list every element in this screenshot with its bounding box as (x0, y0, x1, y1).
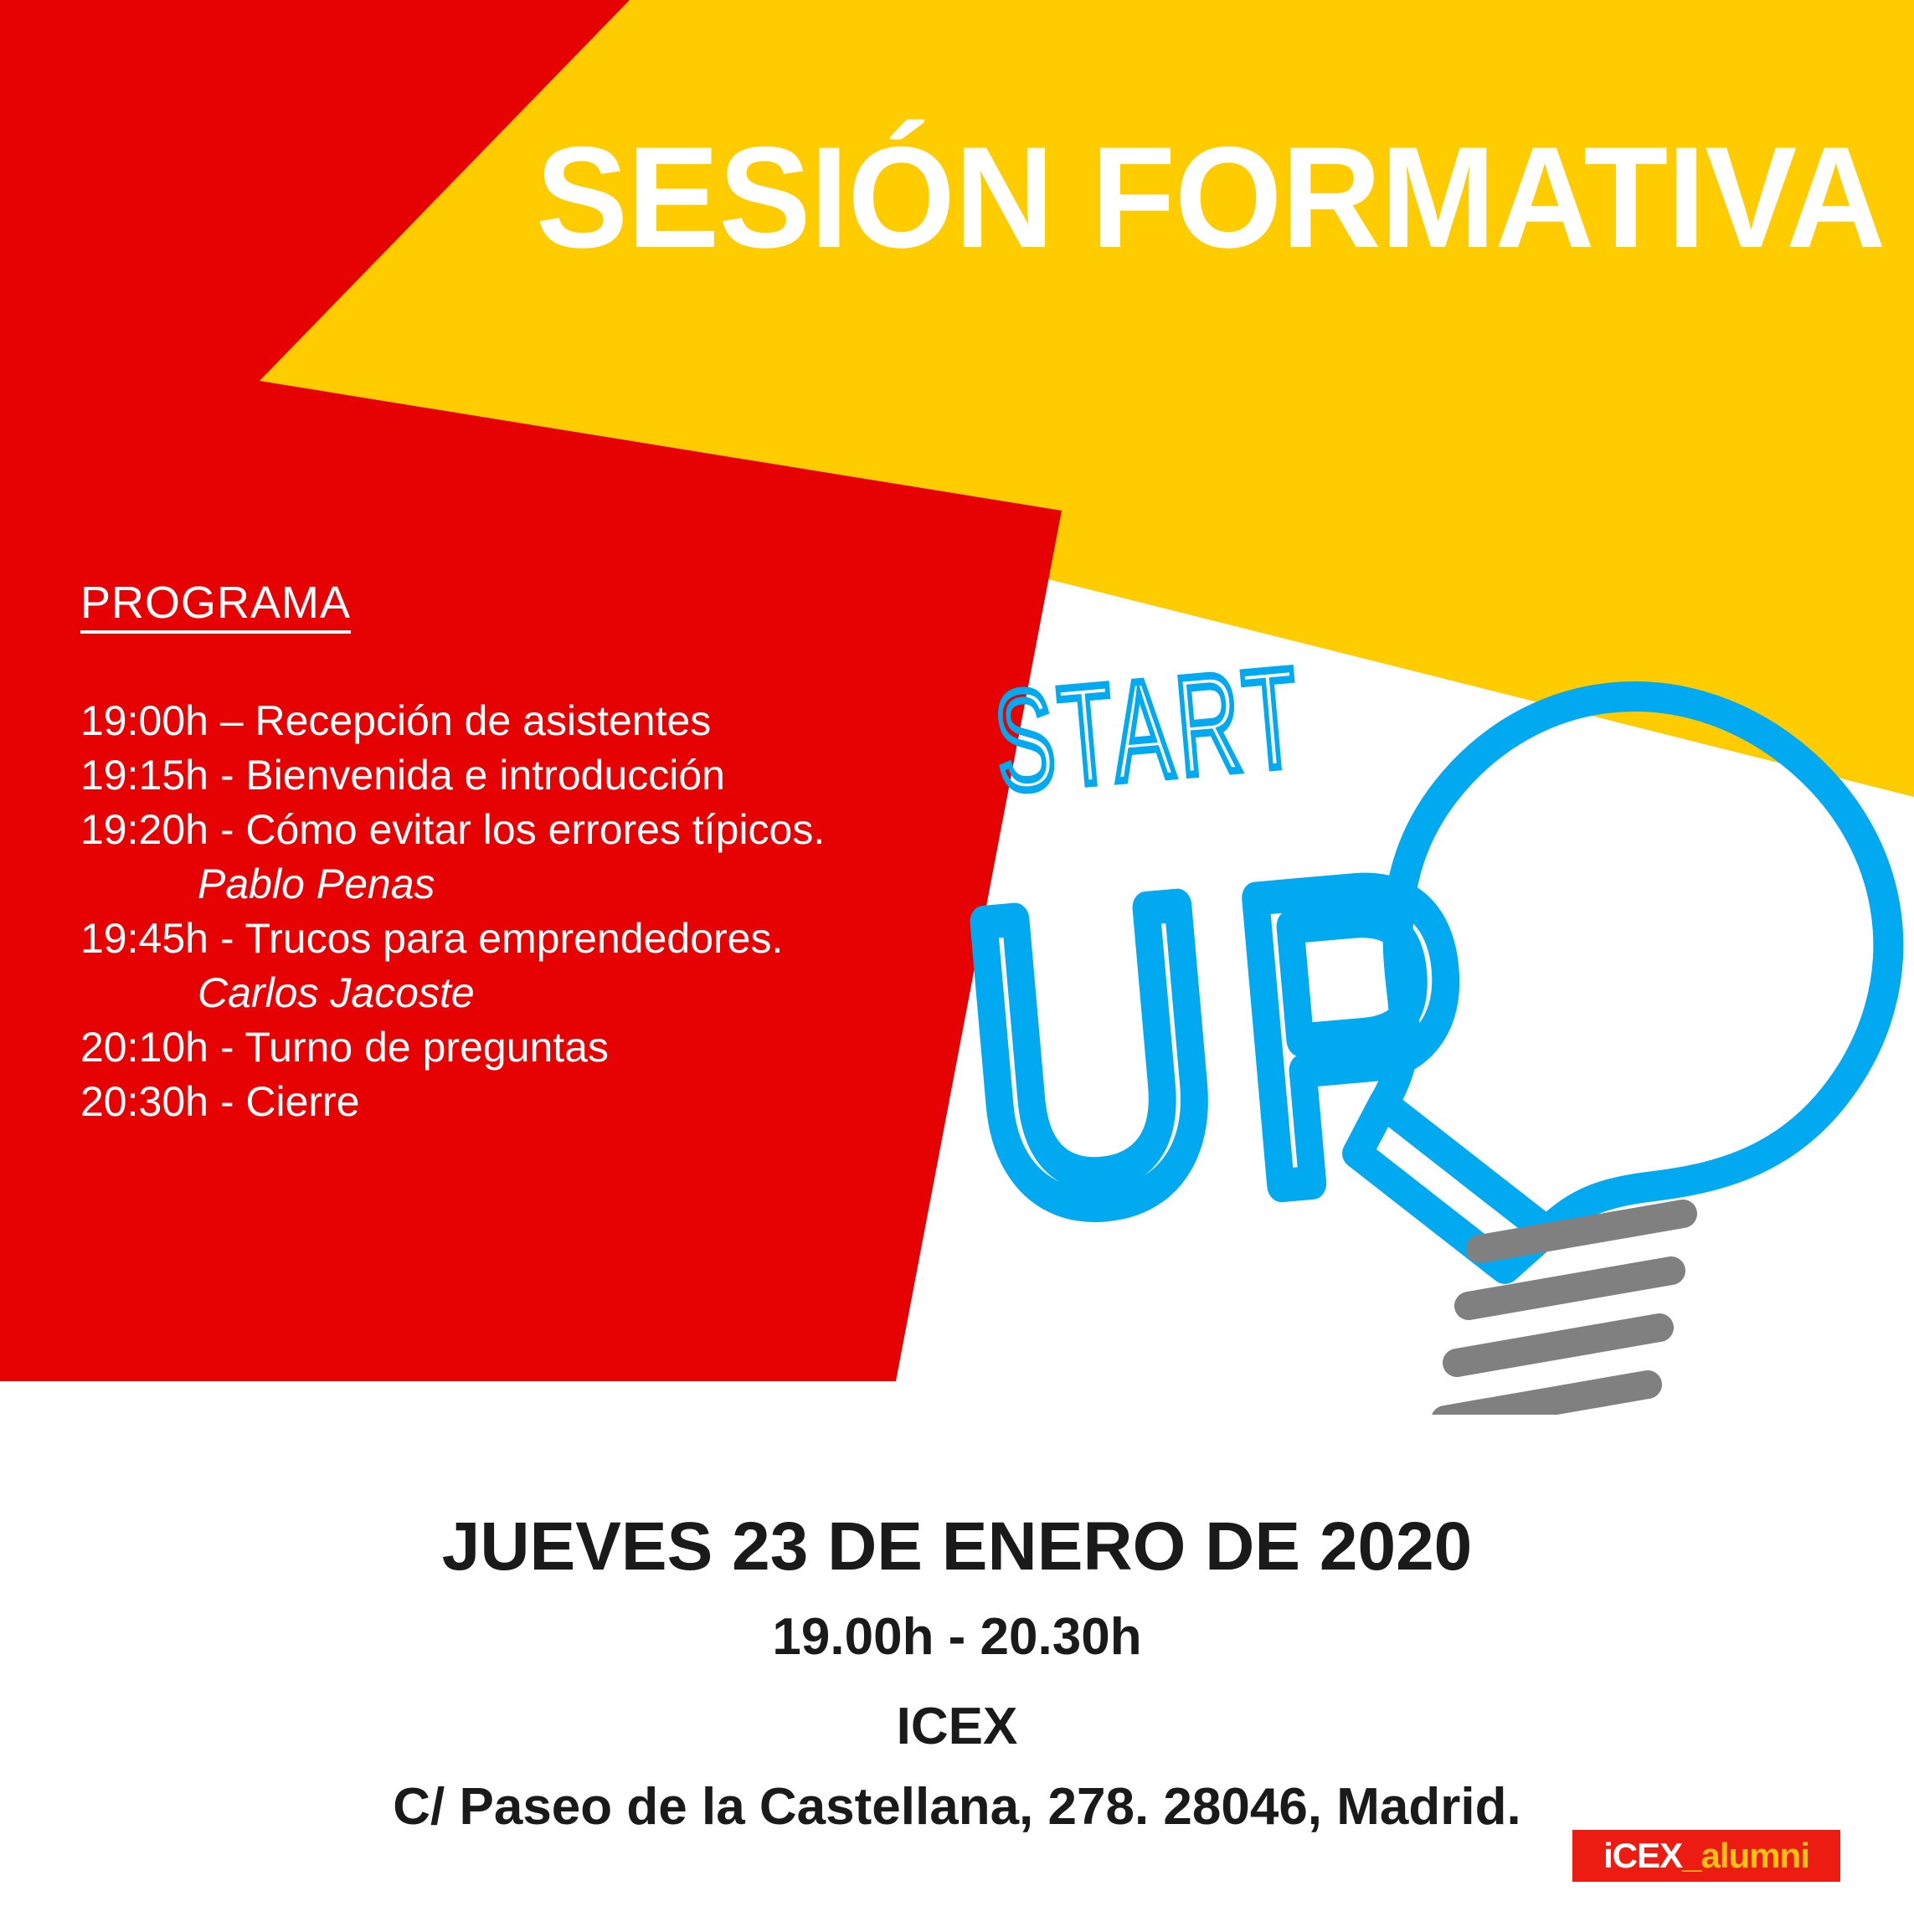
startup-graphic: START UP (963, 636, 1914, 1415)
programa-list: 19:00h – Recepción de asistentes 19:15h … (80, 694, 867, 1129)
icex-alumni-logo[interactable]: iCEX _alumni (1572, 1830, 1840, 1882)
list-item-speaker: Pablo Penas (80, 857, 867, 912)
start-word-label: START (989, 637, 1310, 821)
list-item: 19:45h - Trucos para emprendedores. (80, 912, 867, 966)
start-word: START (989, 637, 1310, 821)
event-details: JUEVES 23 DE ENERO DE 2020 19.00h - 20.3… (0, 1507, 1914, 1847)
programa-section: PROGRAMA 19:00h – Recepción de asistente… (80, 579, 867, 1129)
logo-brand-text: iCEX (1603, 1838, 1682, 1873)
list-item: 19:00h – Recepción de asistentes (80, 694, 867, 748)
logo-suffix-text: _alumni (1682, 1838, 1809, 1873)
list-item: 19:15h - Bienvenida e introducción (80, 748, 867, 803)
list-item: 20:10h - Turno de preguntas (80, 1020, 867, 1075)
event-venue: ICEX (0, 1687, 1914, 1767)
event-date: JUEVES 23 DE ENERO DE 2020 (0, 1507, 1914, 1588)
list-item: 19:20h - Cómo evitar los errores típicos… (80, 803, 867, 857)
programa-heading: PROGRAMA (80, 579, 351, 634)
event-time: 19.00h - 20.30h (0, 1588, 1914, 1687)
bulb-base-hatch-icon (1445, 1214, 1683, 1415)
list-item-speaker: Carlos Jacoste (80, 966, 867, 1020)
page-title: SESIÓN FORMATIVA (536, 126, 1806, 270)
list-item: 20:30h - Cierre (80, 1075, 867, 1129)
